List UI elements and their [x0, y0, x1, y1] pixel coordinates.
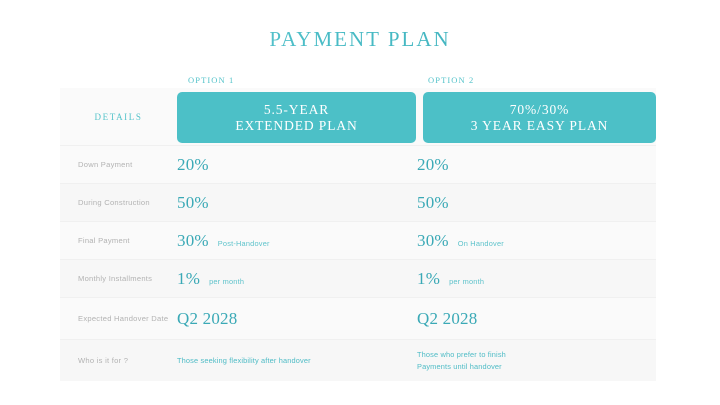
row-option1-sub: per month	[209, 277, 244, 286]
row-option1-note: Those seeking flexibility after handover	[177, 355, 311, 366]
row-option1-cell: 20%	[177, 156, 417, 173]
row-option2-value: 1%	[417, 270, 440, 287]
row-option2-cell: 30% On Handover	[417, 232, 649, 249]
option-1-badge-line1: 5.5-YEAR	[264, 102, 329, 118]
row-option1-sub: Post-Handover	[218, 239, 270, 248]
row-option2-sub: per month	[449, 277, 484, 286]
row-option2-value: Q2 2028	[417, 310, 477, 327]
table-row: Down Payment 20% 20%	[60, 145, 656, 183]
row-label: Who is it for ?	[60, 356, 177, 365]
row-option1-value: 20%	[177, 156, 209, 173]
row-option2-value: 50%	[417, 194, 449, 211]
details-header-label: DETAILS	[60, 112, 177, 122]
row-option2-value: 20%	[417, 156, 449, 173]
option-1-badge[interactable]: 5.5-YEAR EXTENDED PLAN	[177, 92, 416, 143]
row-option2-cell: 1% per month	[417, 270, 649, 287]
row-label: Final Payment	[60, 236, 177, 245]
payment-plan-table: DETAILS 5.5-YEAR EXTENDED PLAN 70%/30% 3…	[60, 88, 656, 373]
option-2-badge-line2: 3 YEAR EASY PLAN	[471, 118, 609, 134]
row-option1-cell: 1% per month	[177, 270, 417, 287]
row-option1-cell: 30% Post-Handover	[177, 232, 417, 249]
row-option2-note: Those who prefer to finish Payments unti…	[417, 349, 506, 372]
row-label: Expected Handover Date	[60, 314, 177, 323]
row-option2-value: 30%	[417, 232, 449, 249]
table-row: Expected Handover Date Q2 2028 Q2 2028	[60, 297, 656, 339]
table-row-audience: Who is it for ? Those seeking flexibilit…	[60, 339, 656, 381]
page-title: PAYMENT PLAN	[0, 27, 720, 52]
row-option1-cell: 50%	[177, 194, 417, 211]
row-option1-value: 30%	[177, 232, 209, 249]
option-2-badge[interactable]: 70%/30% 3 YEAR EASY PLAN	[423, 92, 656, 143]
option-1-badge-line2: EXTENDED PLAN	[235, 118, 357, 134]
row-label: Monthly Installments	[60, 274, 177, 283]
row-option1-value: 50%	[177, 194, 209, 211]
table-row: During Construction 50% 50%	[60, 183, 656, 221]
option-2-caption: OPTION 2	[428, 75, 474, 85]
row-option2-cell: Q2 2028	[417, 310, 649, 327]
row-option1-cell: Q2 2028	[177, 310, 417, 327]
row-option2-cell: 20%	[417, 156, 649, 173]
row-label: Down Payment	[60, 160, 177, 169]
row-option2-cell: 50%	[417, 194, 649, 211]
option-2-badge-line1: 70%/30%	[510, 102, 570, 118]
row-option2-cell: Those who prefer to finish Payments unti…	[417, 349, 649, 372]
option-captions: OPTION 1 OPTION 2	[60, 75, 656, 89]
row-option2-sub: On Handover	[458, 239, 504, 248]
table-row: Final Payment 30% Post-Handover 30% On H…	[60, 221, 656, 259]
row-option1-value: 1%	[177, 270, 200, 287]
option-1-caption: OPTION 1	[188, 75, 234, 85]
slide-canvas: PAYMENT PLAN OPTION 1 OPTION 2 DETAILS 5…	[0, 0, 720, 405]
table-header-row: DETAILS 5.5-YEAR EXTENDED PLAN 70%/30% 3…	[60, 88, 656, 145]
table-row: Monthly Installments 1% per month 1% per…	[60, 259, 656, 297]
row-option1-value: Q2 2028	[177, 310, 237, 327]
row-option1-cell: Those seeking flexibility after handover	[177, 355, 417, 366]
row-label: During Construction	[60, 198, 177, 207]
